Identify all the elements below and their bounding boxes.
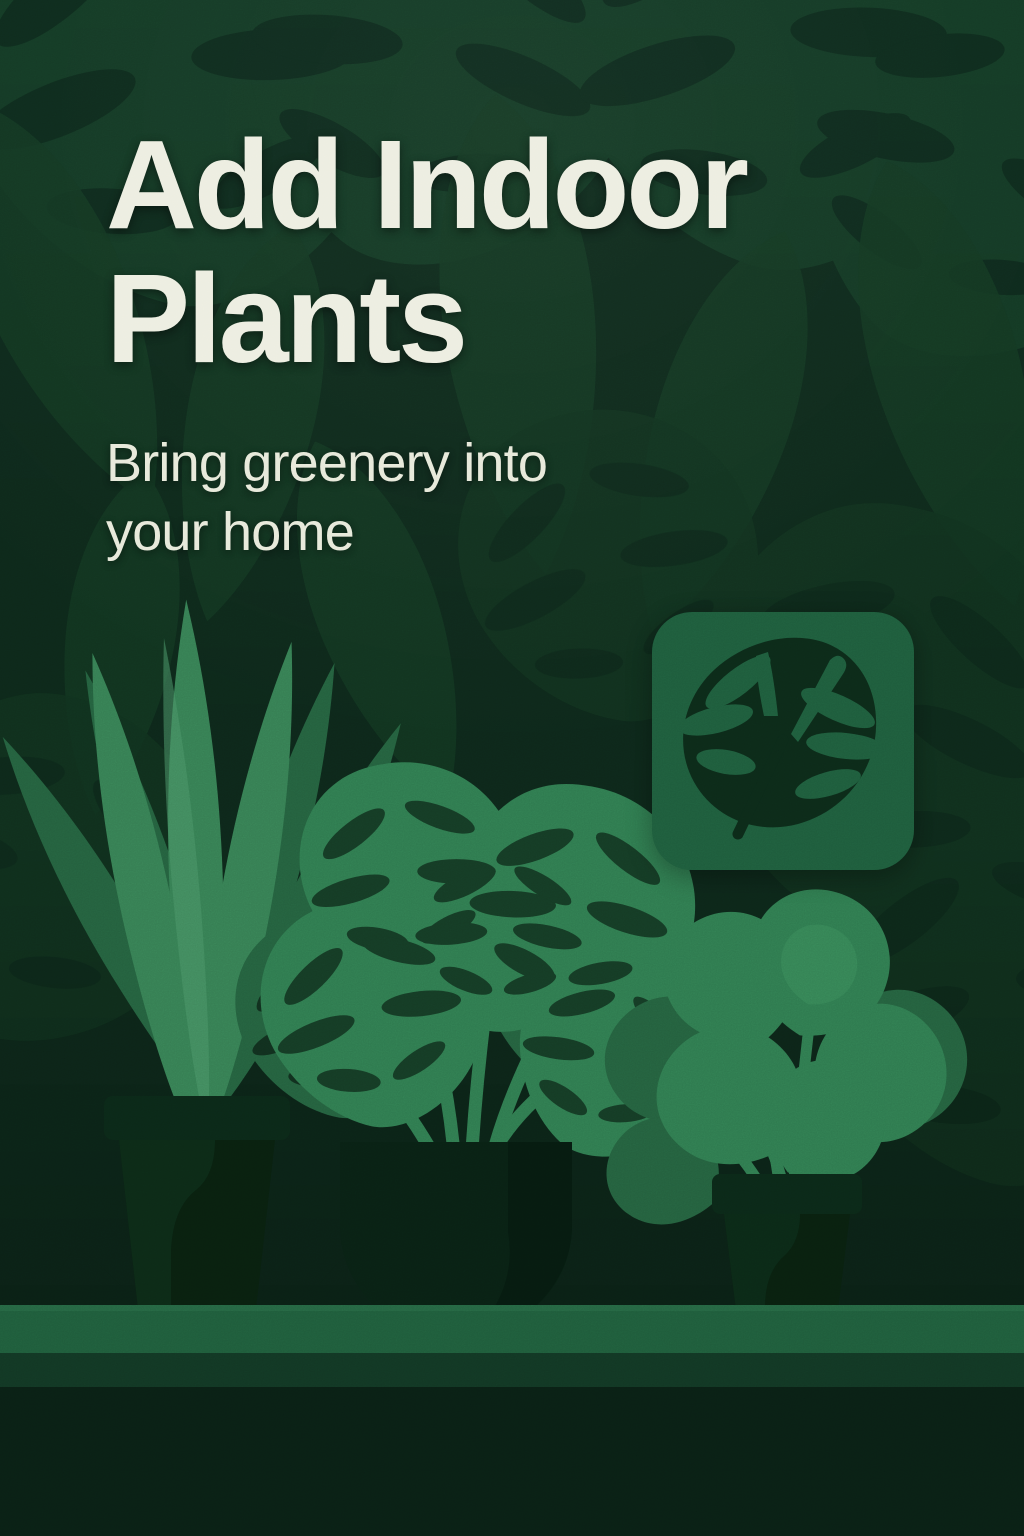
monstera-badge[interactable] <box>652 612 914 870</box>
shelf <box>0 1305 1024 1536</box>
page-subtitle: Bring greenery into your home <box>106 429 666 567</box>
plant-poster: Add Indoor Plants Bring greenery into yo… <box>0 0 1024 1536</box>
copy-block: Add Indoor Plants Bring greenery into yo… <box>106 118 906 567</box>
snake-plant-pot <box>104 1096 290 1330</box>
page-title: Add Indoor Plants <box>106 118 906 385</box>
